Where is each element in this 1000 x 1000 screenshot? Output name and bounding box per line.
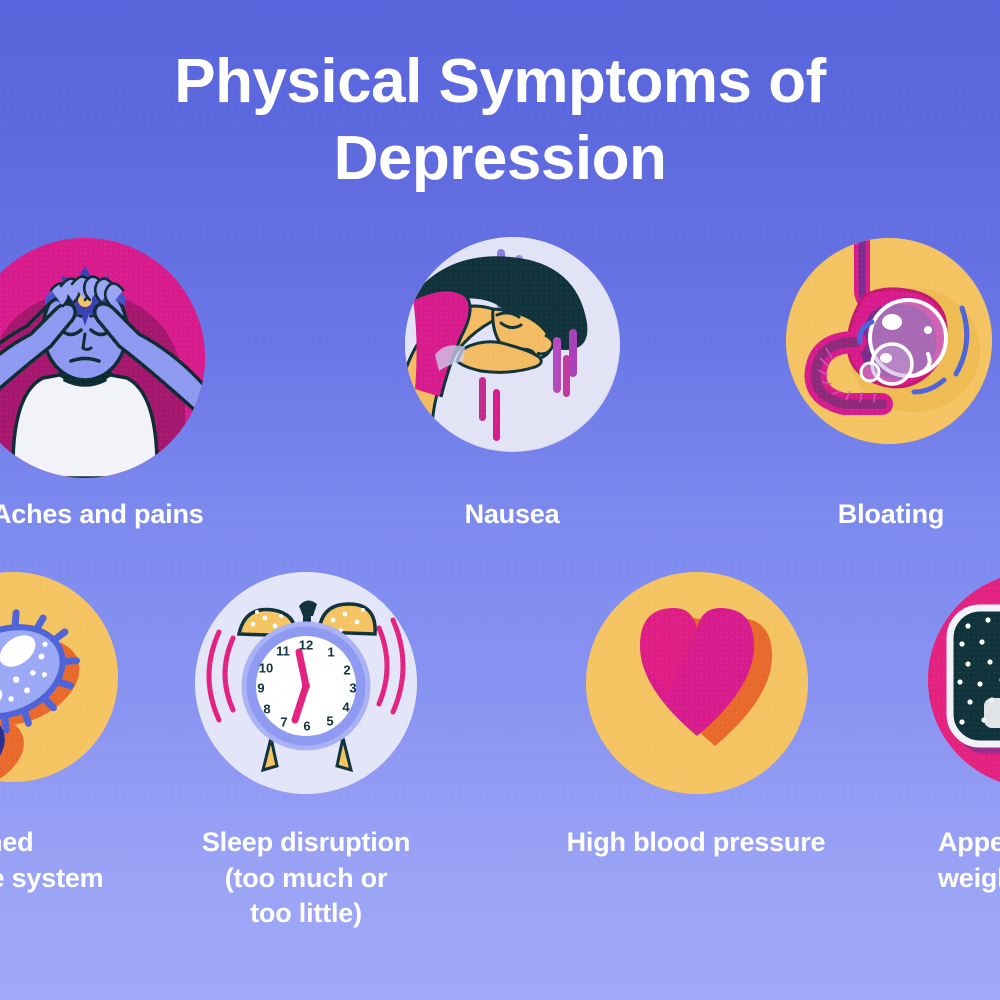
title-line-2: Depression [0,121,1000,198]
alarm-clock-icon: 12 1 2 3 4 5 6 7 8 9 10 11 [195,572,417,794]
germ-bacteria-icon [0,572,118,782]
symptom-label-appetite-and-weight-changes: Appetite and weight changes [938,825,1000,896]
svg-text:7: 7 [280,714,287,729]
symptom-label-sleep-disruption: Sleep disruption (too much or too little… [166,825,446,932]
stomach-gas-bubbles-icon [786,238,992,444]
svg-text:5: 5 [326,713,333,728]
title-line-1: Physical Symptoms of [0,44,1000,121]
svg-text:9: 9 [257,680,264,695]
person-nauseous-icon [405,237,620,452]
symptom-label-weakened-immune-system: Weakened immune system [0,825,192,896]
svg-text:4: 4 [342,699,350,714]
symptom-label-high-blood-pressure: High blood pressure [546,825,846,861]
svg-text:6: 6 [303,718,310,733]
symptom-label-nausea: Nausea [392,497,632,533]
svg-text:10: 10 [259,660,273,675]
svg-text:11: 11 [276,643,290,658]
symptom-label-bloating: Bloating [766,497,1000,533]
symptom-label-aches-and-pains: Aches and pains [0,497,312,533]
svg-text:8: 8 [263,701,270,716]
weight-scale-icon [928,572,1000,788]
svg-text:2: 2 [343,662,350,677]
person-holding-head-icon [0,238,205,478]
svg-text:3: 3 [349,680,356,695]
svg-text:1: 1 [327,644,334,659]
page-title: Physical Symptoms of Depression [0,44,1000,198]
heart-icon [586,572,808,794]
infographic-canvas: Physical Symptoms of Depression [0,0,1000,1000]
